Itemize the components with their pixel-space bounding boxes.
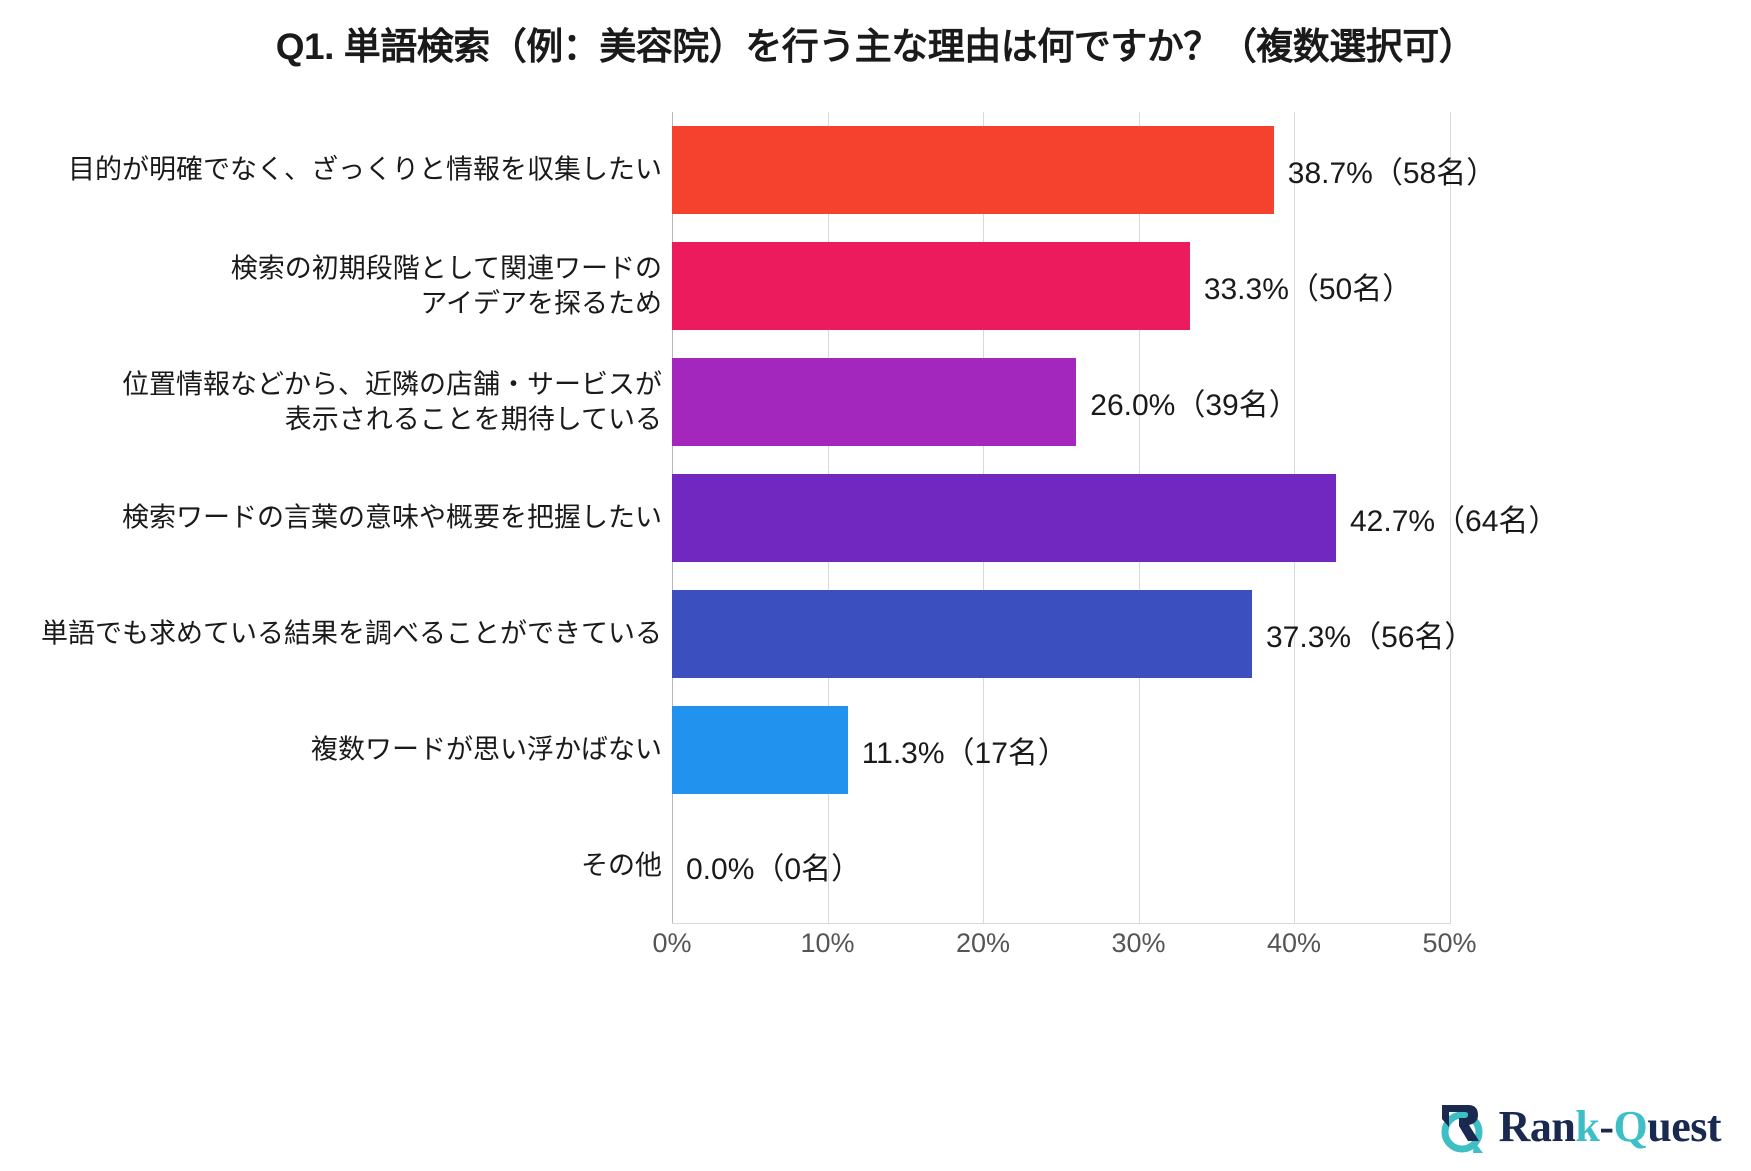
category-label: 単語でも求めている結果を調べることができている <box>22 617 662 652</box>
bar[interactable] <box>672 474 1336 562</box>
bar-value-label: 38.7%（58名） <box>1288 148 1496 192</box>
page-title: Q1. 単語検索（例：美容院）を行う主な理由は何ですか？（複数選択可） <box>0 16 1751 70</box>
rank-quest-logo: Rank-Quest <box>1437 1101 1721 1153</box>
bar-value-label: 37.3%（56名） <box>1266 612 1474 656</box>
bar-value-label: 11.3%（17名） <box>862 728 1068 772</box>
logo-text-ran: Ran <box>1499 1102 1576 1151</box>
x-tick-label: 40% <box>1267 928 1321 959</box>
category-label: 検索の初期段階として関連ワードの アイデアを探るため <box>22 251 662 320</box>
bar-value-label: 26.0%（39名） <box>1090 380 1298 424</box>
category-label: 位置情報などから、近隣の店舗・サービスが 表示されることを期待している <box>22 367 662 436</box>
bar-row[interactable]: その他0.0%（0名） <box>0 808 1751 924</box>
x-tick-label: 10% <box>800 928 854 959</box>
bar[interactable] <box>672 590 1252 678</box>
bar[interactable] <box>672 242 1190 330</box>
bar-row[interactable]: 目的が明確でなく、ざっくりと情報を収集したい38.7%（58名） <box>0 112 1751 228</box>
logo-text-k: k <box>1575 1102 1599 1151</box>
bar-row[interactable]: 検索ワードの言葉の意味や概要を把握したい42.7%（64名） <box>0 460 1751 576</box>
bar[interactable] <box>672 358 1076 446</box>
bar[interactable] <box>672 706 848 794</box>
logo-wordmark: Rank-Quest <box>1499 1105 1721 1149</box>
category-label: その他 <box>22 849 662 884</box>
bar-row[interactable]: 位置情報などから、近隣の店舗・サービスが 表示されることを期待している26.0%… <box>0 344 1751 460</box>
bar-row[interactable]: 複数ワードが思い浮かばない11.3%（17名） <box>0 692 1751 808</box>
bar-value-label: 42.7%（64名） <box>1350 496 1558 540</box>
category-label: 複数ワードが思い浮かばない <box>22 733 662 768</box>
x-tick-label: 30% <box>1111 928 1165 959</box>
category-label: 検索ワードの言葉の意味や概要を把握したい <box>22 501 662 536</box>
chart-plot-area: 目的が明確でなく、ざっくりと情報を収集したい38.7%（58名）検索の初期段階と… <box>0 112 1751 924</box>
rank-quest-mark-icon <box>1437 1101 1489 1153</box>
x-tick-label: 0% <box>652 928 691 959</box>
logo-text-uest: uest <box>1647 1102 1721 1151</box>
x-tick-label: 50% <box>1422 928 1476 959</box>
bar-row[interactable]: 検索の初期段階として関連ワードの アイデアを探るため33.3%（50名） <box>0 228 1751 344</box>
bar-row[interactable]: 単語でも求めている結果を調べることができている37.3%（56名） <box>0 576 1751 692</box>
x-axis-ticks: 0%10%20%30%40%50% <box>0 928 1751 968</box>
logo-text-q: Q <box>1613 1102 1647 1151</box>
x-tick-label: 20% <box>956 928 1010 959</box>
bar-value-label: 0.0%（0名） <box>686 844 861 888</box>
bar-value-label: 33.3%（50名） <box>1204 264 1412 308</box>
logo-text-dash: - <box>1599 1102 1613 1151</box>
bar[interactable] <box>672 126 1274 214</box>
category-label: 目的が明確でなく、ざっくりと情報を収集したい <box>22 153 662 188</box>
